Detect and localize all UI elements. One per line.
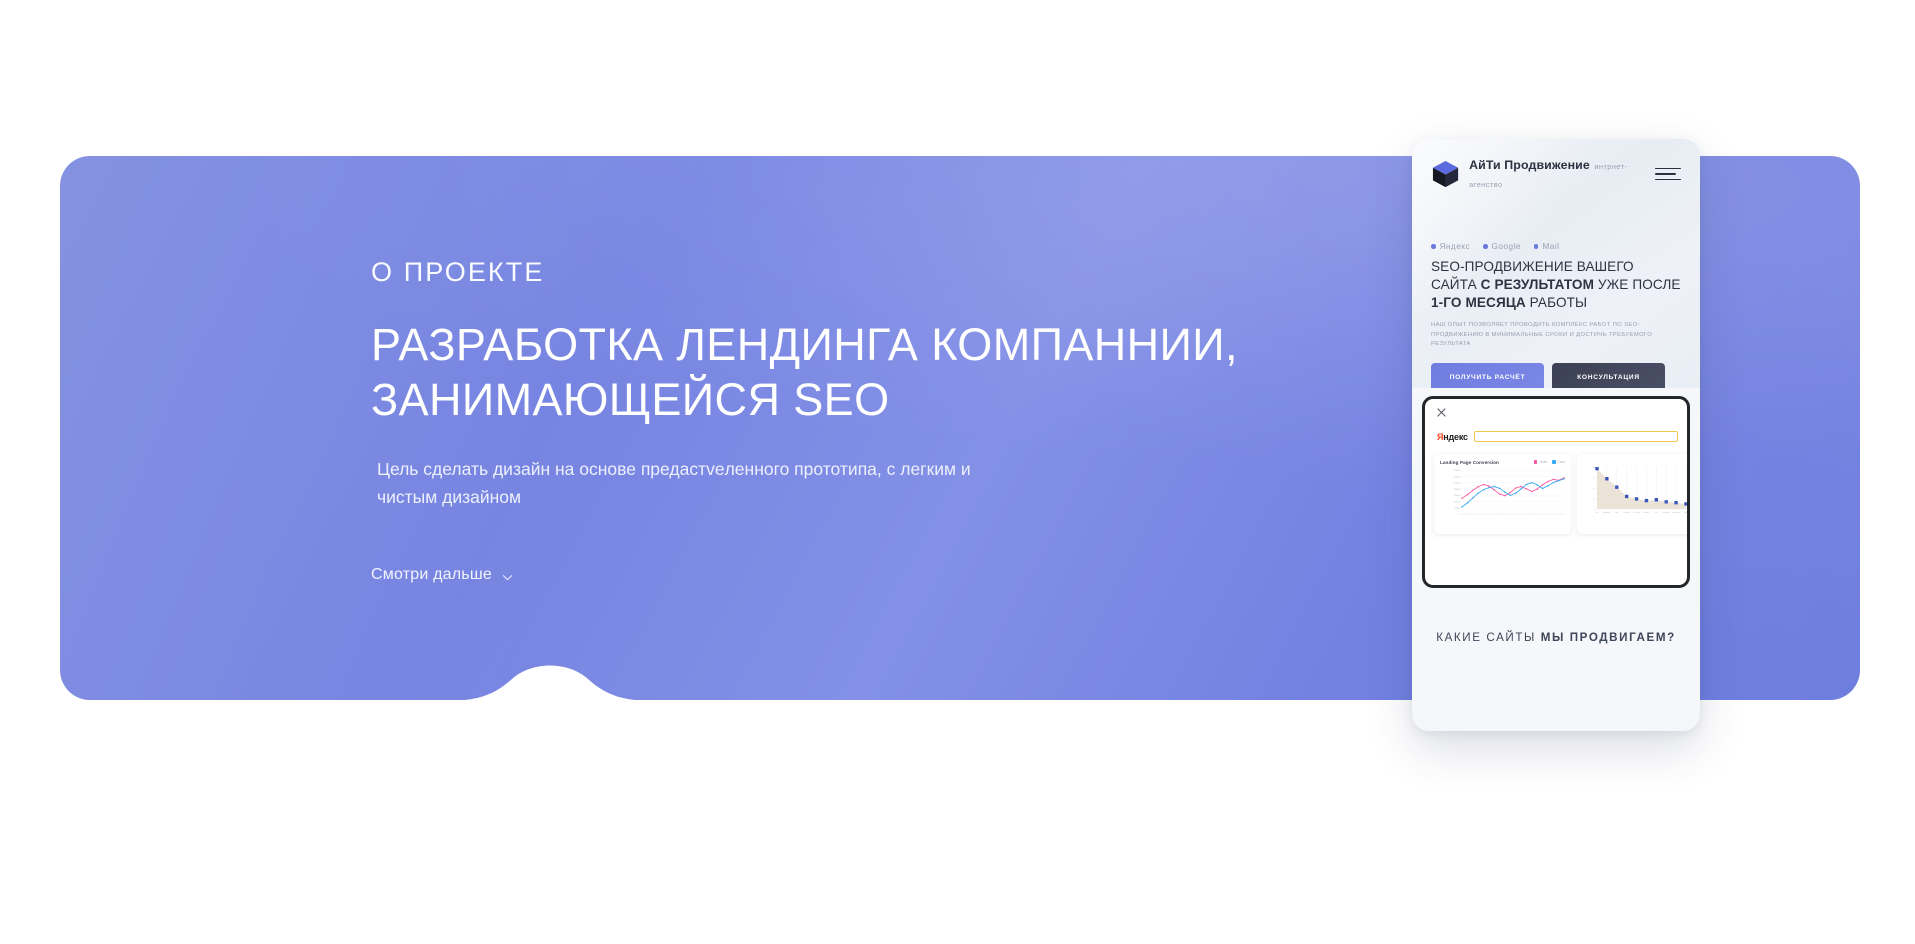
svg-text:240000: 240000 <box>1454 489 1462 491</box>
close-icon[interactable] <box>1436 407 1447 418</box>
hero-eyebrow: О ПРОЕКТЕ <box>371 258 1371 288</box>
consultation-button[interactable]: КОНСУЛЬТАЦИЯ <box>1552 363 1665 388</box>
badge-google: Google <box>1483 242 1521 251</box>
svg-text:оптимизац: оптимизац <box>1672 512 1680 514</box>
bullet-dot-icon <box>1483 244 1488 249</box>
search-engine-badges: Яндекс Google Mail <box>1412 192 1700 251</box>
bullet-dot-icon <box>1534 244 1539 249</box>
site-headline: SEO-ПРОДВИЖЕНИЕ ВАШЕГО САЙТА С РЕЗУЛЬТАТ… <box>1412 251 1700 312</box>
site-hero-section: АйТи Продвижение интрнет-агенство Яндекс <box>1412 139 1700 388</box>
bullet-dot-icon <box>1431 244 1436 249</box>
yandex-rest: ндекс <box>1443 432 1468 442</box>
headline-part-bold: С РЕЗУЛЬТАТОМ <box>1481 277 1594 292</box>
headline-part: УЖЕ ПОСЛЕ <box>1594 277 1681 292</box>
legend-item-conv: Conv <box>1552 460 1565 464</box>
badge-mail: Mail <box>1534 242 1560 251</box>
svg-text:seo: seo <box>1596 512 1599 514</box>
brand-text: АйТи Продвижение интрнет-агенство <box>1469 156 1655 192</box>
legend-swatch <box>1534 460 1538 464</box>
line-chart-card: Landing Page Conversion Visits Conv <box>1434 454 1571 534</box>
phone-mockup: АйТи Продвижение интрнет-агенство Яндекс <box>1412 139 1700 731</box>
site-header: АйТи Продвижение интрнет-агенство <box>1412 139 1700 192</box>
line-chart-title: Landing Page Conversion <box>1440 460 1499 465</box>
svg-text:—: — <box>1461 516 1463 518</box>
svg-text:заказать: заказать <box>1643 512 1649 514</box>
bottom-heading-part-bold: МЫ ПРОДВИГАЕМ? <box>1541 631 1676 644</box>
search-bar-row: Яндекс <box>1425 399 1687 442</box>
svg-text:аудит: аудит <box>1684 512 1688 514</box>
svg-text:420000: 420000 <box>1454 470 1462 472</box>
bottom-heading: КАКИЕ САЙТЫ МЫ ПРОДВИГАЕМ? <box>1434 629 1678 646</box>
svg-text:—: — <box>1536 516 1538 518</box>
browser-mockup: Яндекс Landing Page Conversion Visits <box>1422 396 1690 588</box>
brand-name: АйТи Продвижение <box>1469 158 1590 172</box>
svg-text:—: — <box>1483 516 1485 518</box>
site-cta-row: ПОЛУЧИТЬ РАСЧЁТ КОНСУЛЬТАЦИЯ <box>1412 350 1700 388</box>
svg-text:25: 25 <box>1593 499 1595 501</box>
cube-logo-icon <box>1431 160 1460 189</box>
svg-text:—: — <box>1493 516 1495 518</box>
badge-label: Mail <box>1542 242 1559 251</box>
svg-text:300000: 300000 <box>1454 483 1462 485</box>
svg-text:180000: 180000 <box>1454 495 1462 497</box>
chevron-down-icon <box>502 570 513 581</box>
see-more-link[interactable]: Смотри дальше <box>371 566 513 584</box>
hero-copy: О ПРОЕКТЕ РАЗРАБОТКА ЛЕНДИНГА КОМПАННИИ,… <box>371 258 1371 511</box>
legend-label: Visits <box>1539 460 1547 464</box>
search-input[interactable] <box>1474 431 1678 442</box>
svg-text:—: — <box>1472 516 1474 518</box>
get-estimate-button[interactable]: ПОЛУЧИТЬ РАСЧЁТ <box>1431 363 1544 388</box>
yandex-logo: Яндекс <box>1437 432 1468 442</box>
burger-line <box>1655 173 1676 175</box>
badge-yandex: Яндекс <box>1431 242 1470 251</box>
headline-part: РАБОТЫ <box>1526 295 1587 310</box>
svg-text:360000: 360000 <box>1454 476 1462 478</box>
headline-part-bold: 1-ГО МЕСЯЦА <box>1431 295 1526 310</box>
panel-wave-notch <box>440 655 660 700</box>
legend-swatch <box>1552 460 1556 464</box>
legend-label: Conv <box>1558 460 1565 464</box>
svg-text:раскрутка: раскрутка <box>1623 512 1630 514</box>
svg-text:60000: 60000 <box>1455 508 1462 510</box>
keyword-chart-plot: 1007550250seoпродвиженсайтараскруткаseo-… <box>1583 463 1689 530</box>
svg-text:120000: 120000 <box>1454 501 1462 503</box>
bottom-heading-part: КАКИЕ САЙТЫ <box>1436 631 1540 644</box>
svg-text:продвижен: продвижен <box>1603 512 1611 514</box>
svg-text:—: — <box>1526 516 1528 518</box>
svg-text:продвижен: продвижен <box>1662 512 1670 514</box>
svg-text:сео: сео <box>1655 512 1658 514</box>
line-chart-plot: 4200003600003000002400001800001200006000… <box>1440 468 1565 529</box>
badge-label: Яндекс <box>1440 242 1471 251</box>
svg-text:—: — <box>1558 516 1560 518</box>
svg-text:75: 75 <box>1593 478 1595 480</box>
hero-subcopy: Цель сделать дизайн на основе предастveл… <box>377 456 1167 510</box>
svg-text:0: 0 <box>1594 509 1595 511</box>
screenshot-root: О ПРОЕКТЕ РАЗРАБОТКА ЛЕНДИНГА КОМПАННИИ,… <box>0 0 1915 944</box>
charts-row: Landing Page Conversion Visits Conv <box>1425 442 1687 534</box>
site-section-heading: КАКИЕ САЙТЫ МЫ ПРОДВИГАЕМ? <box>1412 588 1700 646</box>
svg-text:сайта: сайта <box>1615 511 1619 514</box>
burger-line <box>1655 168 1681 170</box>
svg-text:—: — <box>1547 516 1549 518</box>
burger-line <box>1655 179 1681 181</box>
keyword-chart-card: 1007550250seoпродвиженсайтараскруткаseo-… <box>1577 454 1690 534</box>
hamburger-menu-icon[interactable] <box>1655 168 1681 181</box>
svg-text:100: 100 <box>1592 467 1595 469</box>
svg-text:—: — <box>1515 516 1517 518</box>
hero-headline: РАЗРАБОТКА ЛЕНДИНГА КОМПАННИИ, ЗАНИМАЮЩЕ… <box>371 318 1371 428</box>
site-brand[interactable]: АйТи Продвижение интрнет-агенство <box>1431 156 1655 192</box>
site-paragraph: НАШ ОПЫТ ПОЗВОЛЯЕТ ПРОВОДИТЬ КОМПЛЕКС РА… <box>1412 312 1700 350</box>
line-chart-legend: Visits Conv <box>1534 460 1565 464</box>
legend-item-visits: Visits <box>1534 460 1547 464</box>
badge-label: Google <box>1492 242 1521 251</box>
svg-text:seo-оптим: seo-оптим <box>1633 512 1640 514</box>
see-more-label: Смотри дальше <box>371 566 492 584</box>
svg-text:50: 50 <box>1593 488 1595 490</box>
svg-text:—: — <box>1504 516 1506 518</box>
